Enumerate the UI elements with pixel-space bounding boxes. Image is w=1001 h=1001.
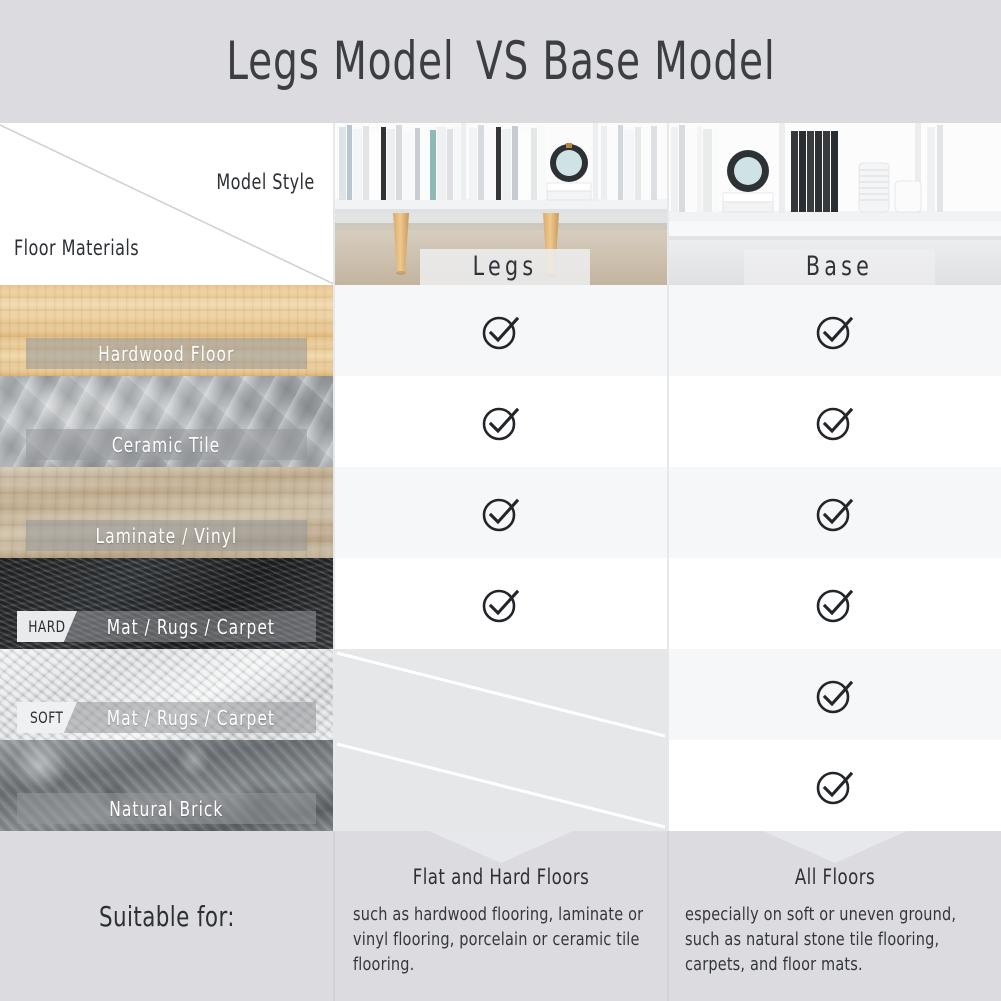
cell-legs-laminate bbox=[335, 467, 667, 558]
cell-legs-hardwood bbox=[335, 285, 667, 376]
cell-base-ceramic bbox=[669, 376, 1001, 467]
material-name: Laminate / Vinyl bbox=[96, 524, 238, 548]
footer-legs-heading: Flat and Hard Floors bbox=[355, 865, 647, 889]
legs-product-photo: Legs bbox=[335, 123, 667, 285]
footer-legs-body: such as hardwood flooring, laminate or v… bbox=[353, 903, 657, 978]
material-label-bar: SOFT Mat / Rugs / Carpet bbox=[17, 702, 316, 733]
suitable-for-text: Suitable for: bbox=[99, 900, 235, 933]
column-divider-2 bbox=[667, 123, 669, 831]
cell-legs-hard-carpet bbox=[335, 558, 667, 649]
footer-base-column: All Floors especially on soft or uneven … bbox=[669, 831, 1001, 1001]
material-label-bar: Natural Brick bbox=[17, 793, 316, 824]
cell-legs-soft-carpet bbox=[335, 649, 667, 740]
footer: Suitable for: Flat and Hard Floors such … bbox=[0, 831, 1001, 1001]
hard-badge: HARD bbox=[17, 611, 77, 642]
cell-legs-ceramic bbox=[335, 376, 667, 467]
material-row-ceramic: Ceramic Tile bbox=[0, 376, 333, 467]
cell-legs-natural-brick bbox=[335, 740, 667, 831]
page-title: Legs ModelVS Base Model bbox=[226, 31, 775, 92]
material-name: Natural Brick bbox=[109, 797, 223, 821]
corner-diagonal-line bbox=[0, 123, 333, 285]
title-bar: Legs ModelVS Base Model bbox=[0, 0, 1001, 123]
check-circle-icon bbox=[478, 581, 524, 627]
cell-base-natural-brick bbox=[669, 740, 1001, 831]
material-label-wrap: Ceramic Tile bbox=[0, 429, 333, 460]
material-label-wrap: SOFT Mat / Rugs / Carpet bbox=[0, 702, 333, 733]
cell-base-hardwood bbox=[669, 285, 1001, 376]
model-style-label: Model Style bbox=[217, 170, 315, 194]
material-row-hard-carpet: HARD Mat / Rugs / Carpet bbox=[0, 558, 333, 649]
material-name: Mat / Rugs / Carpet bbox=[107, 615, 275, 639]
column-label-legs: Legs bbox=[420, 249, 590, 285]
table-corner-header: Model Style Floor Materials bbox=[0, 123, 333, 285]
footer-base-heading: All Floors bbox=[689, 865, 981, 889]
comparison-table: Model Style Floor Materials bbox=[0, 123, 1001, 831]
material-label-bar: Hardwood Floor bbox=[26, 338, 307, 369]
material-row-soft-carpet: SOFT Mat / Rugs / Carpet bbox=[0, 649, 333, 740]
suitable-for-label: Suitable for: bbox=[0, 831, 333, 1001]
material-name: Ceramic Tile bbox=[112, 433, 220, 457]
cell-base-soft-carpet bbox=[669, 649, 1001, 740]
material-row-hardwood: Hardwood Floor bbox=[0, 285, 333, 376]
base-product-photo: Base bbox=[669, 123, 1001, 285]
title-left: Legs Model bbox=[226, 31, 454, 92]
material-label-bar: Laminate / Vinyl bbox=[26, 520, 307, 551]
floor-materials-label: Floor Materials bbox=[14, 236, 139, 260]
cell-base-hard-carpet bbox=[669, 558, 1001, 649]
soft-badge-text: SOFT bbox=[30, 708, 63, 727]
check-circle-icon bbox=[812, 308, 858, 354]
material-label-wrap: Hardwood Floor bbox=[0, 338, 333, 369]
column-label-base: Base bbox=[744, 249, 935, 285]
material-label-wrap: Laminate / Vinyl bbox=[0, 520, 333, 551]
soft-badge: SOFT bbox=[17, 702, 77, 733]
check-circle-icon bbox=[812, 672, 858, 718]
diagonal-slash-icon bbox=[335, 740, 667, 831]
title-right: Base Model bbox=[542, 31, 775, 92]
check-circle-icon bbox=[812, 490, 858, 536]
material-label-wrap: Natural Brick bbox=[0, 793, 333, 824]
material-label-bar: HARD Mat / Rugs / Carpet bbox=[17, 611, 316, 642]
footer-legs-column: Flat and Hard Floors such as hardwood fl… bbox=[335, 831, 667, 1001]
check-circle-icon bbox=[478, 308, 524, 354]
check-circle-icon bbox=[478, 399, 524, 445]
material-label-bar: Ceramic Tile bbox=[26, 429, 307, 460]
material-name: Mat / Rugs / Carpet bbox=[107, 706, 275, 730]
column-divider-1 bbox=[333, 123, 335, 831]
title-vs: VS bbox=[475, 31, 528, 92]
check-circle-icon bbox=[812, 581, 858, 627]
material-row-natural-brick: Natural Brick bbox=[0, 740, 333, 831]
check-circle-icon bbox=[812, 399, 858, 445]
material-label-wrap: HARD Mat / Rugs / Carpet bbox=[0, 611, 333, 642]
material-name: Hardwood Floor bbox=[98, 342, 234, 366]
check-circle-icon bbox=[478, 490, 524, 536]
material-row-laminate: Laminate / Vinyl bbox=[0, 467, 333, 558]
comparison-infographic: Legs ModelVS Base Model Model Style Floo… bbox=[0, 0, 1001, 1001]
diagonal-slash-icon bbox=[335, 649, 667, 740]
footer-base-body: especially on soft or uneven ground, suc… bbox=[685, 903, 994, 978]
check-circle-icon bbox=[812, 763, 858, 809]
cell-base-laminate bbox=[669, 467, 1001, 558]
hard-badge-text: HARD bbox=[28, 617, 65, 636]
